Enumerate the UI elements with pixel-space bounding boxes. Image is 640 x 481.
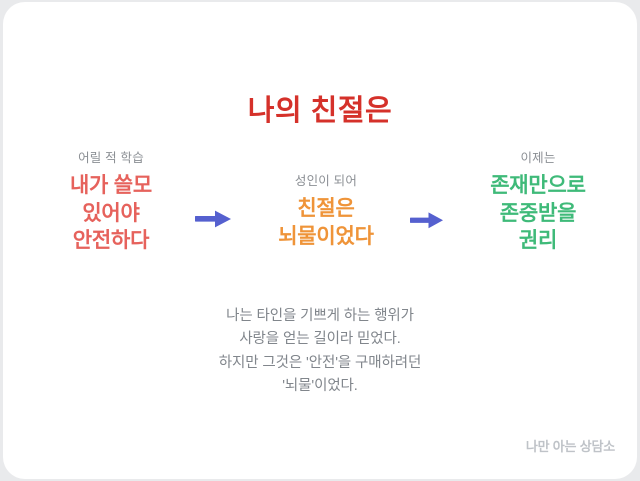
paragraph-line: 나는 타인을 기쁘게 하는 행위가: [3, 305, 637, 328]
paragraph-line: 하지만 그것은 '안전'을 구매하려던: [3, 352, 637, 375]
flow-stage-line: 안전하다: [31, 227, 191, 255]
arrow-right-icon: [410, 210, 445, 236]
flow-stage-text: 친절은 뇌물이었다: [246, 195, 406, 250]
flow-stage-childhood: 어릴 적 학습 내가 쓸모 있어야 안전하다: [31, 147, 191, 255]
flow-stage-label: 성인이 되어: [246, 170, 406, 189]
flow-stage-line: 있어야: [31, 200, 191, 228]
flow-stage-adulthood: 성인이 되어 친절은 뇌물이었다: [246, 170, 406, 250]
flow-stage-label: 어릴 적 학습: [31, 147, 191, 166]
flow-stage-line: 권리: [458, 227, 618, 255]
flow-stage-text: 내가 쓸모 있어야 안전하다: [31, 172, 191, 255]
arrow-right-icon: [195, 208, 233, 235]
flow-stage-label: 이제는: [458, 147, 618, 166]
flow-stage-line: 존중받을: [458, 200, 618, 228]
flow-stage-line: 존재만으로: [458, 172, 618, 200]
page-title: 나의 친절은: [3, 87, 637, 129]
flow-stage-line: 친절은: [246, 195, 406, 223]
flow-stage-text: 존재만으로 존중받을 권리: [458, 172, 618, 255]
slide-card: 나의 친절은 어릴 적 학습 내가 쓸모 있어야 안전하다 성인이 되어 친절은: [3, 2, 637, 479]
flow-stage-line: 뇌물이었다: [246, 223, 406, 251]
paragraph-line: '뇌물'이었다.: [3, 375, 637, 398]
body-paragraph: 나는 타인을 기쁘게 하는 행위가 사랑을 얻는 길이라 믿었다. 하지만 그것…: [3, 305, 637, 399]
flow-stage-now: 이제는 존재만으로 존중받을 권리: [458, 147, 618, 255]
paragraph-line: 사랑을 얻는 길이라 믿었다.: [3, 328, 637, 351]
flow-diagram: 어릴 적 학습 내가 쓸모 있어야 안전하다 성인이 되어 친절은 뇌물이었다: [3, 142, 637, 292]
flow-stage-line: 내가 쓸모: [31, 172, 191, 200]
footer-watermark: 나만 아는 상담소: [526, 436, 615, 455]
